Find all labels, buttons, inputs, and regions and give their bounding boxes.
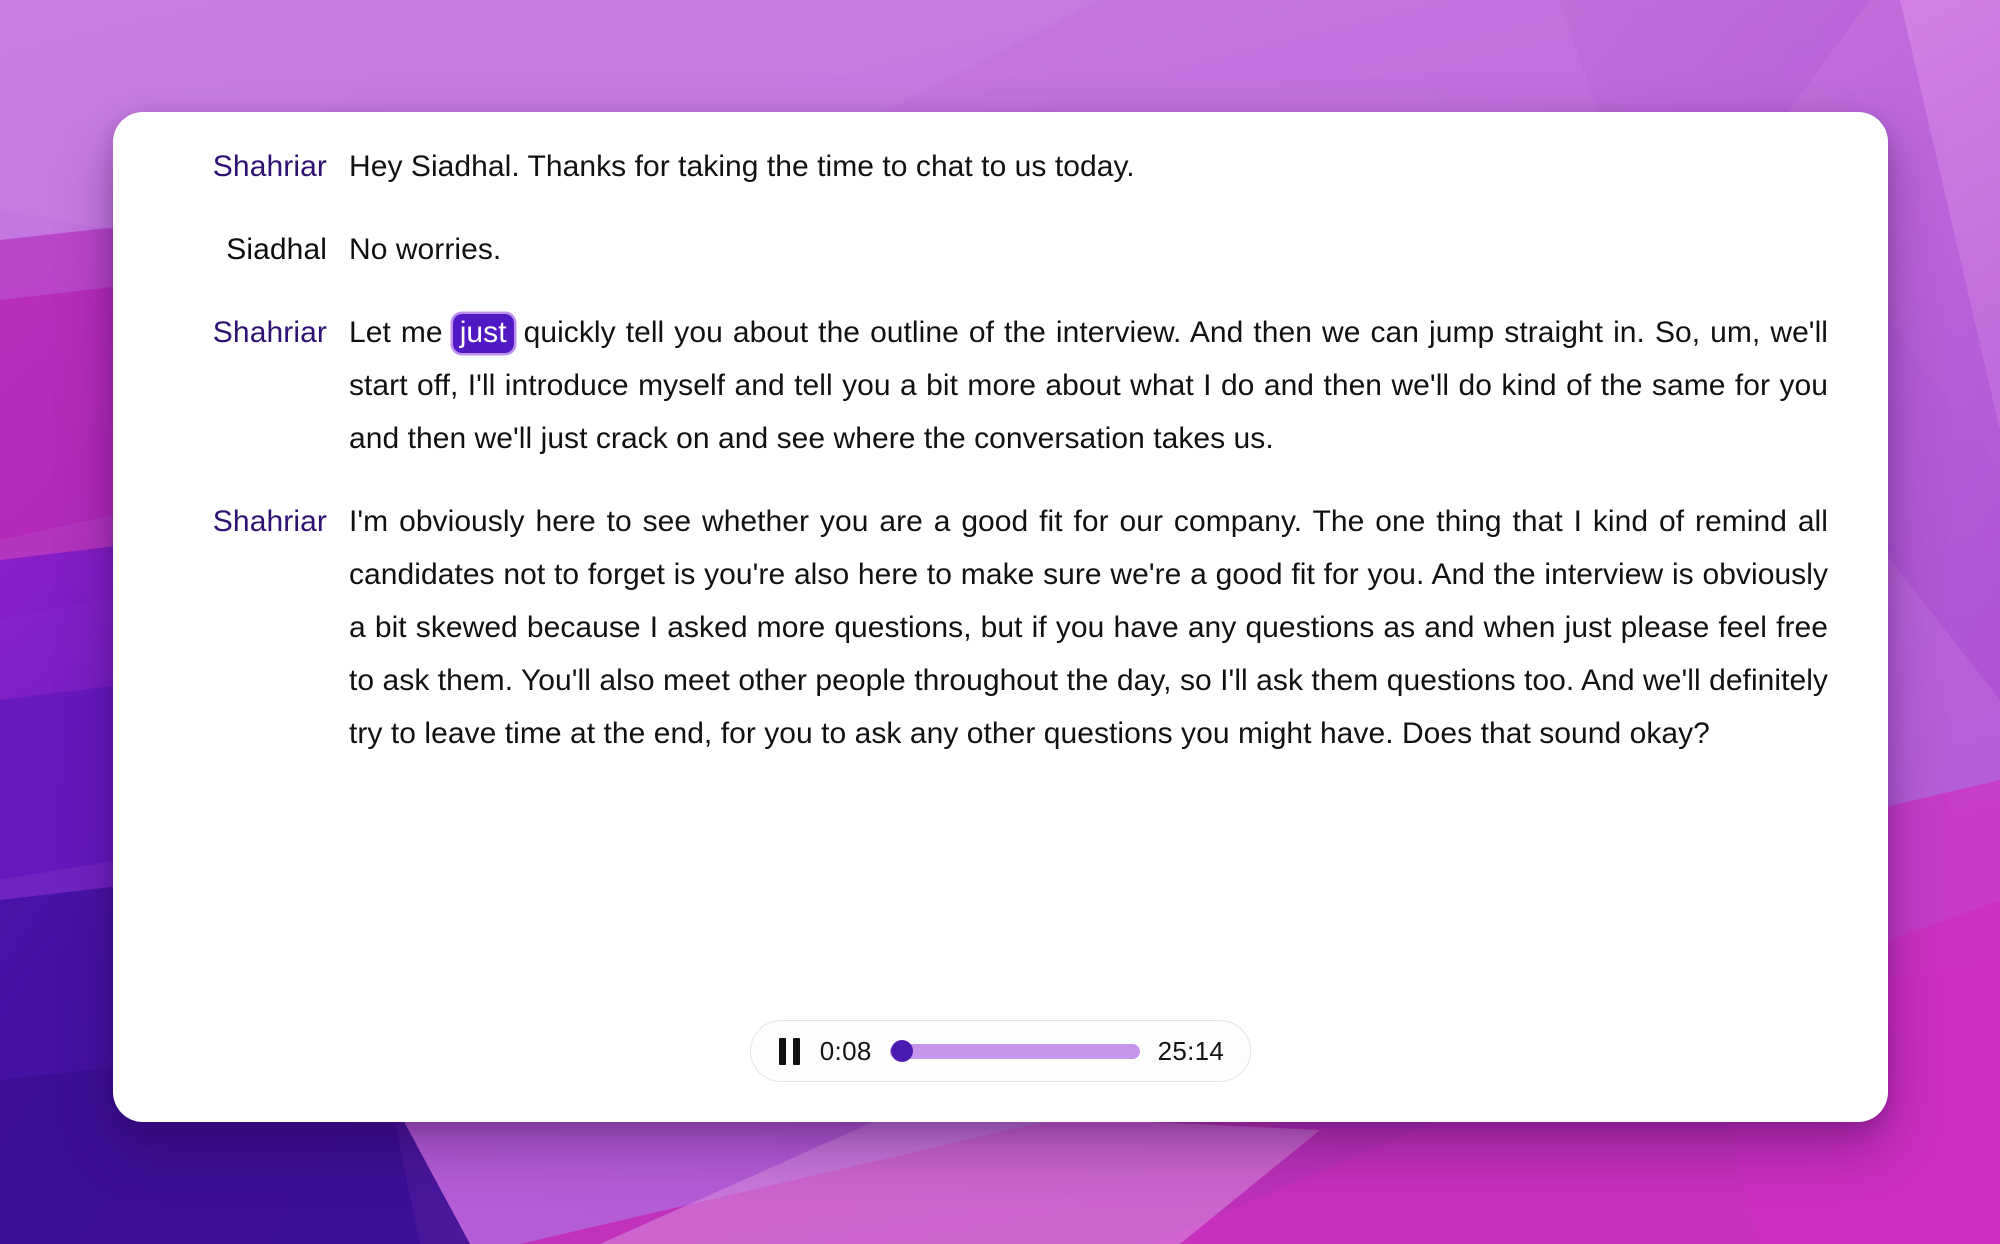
pause-bar-right (793, 1038, 800, 1065)
speaker-label-shahriar[interactable]: Shahriar (153, 306, 349, 359)
duration-label: 25:14 (1158, 1036, 1225, 1067)
utterance-segment-after: quickly tell you about the outline of th… (349, 316, 1828, 455)
transcript-turn: Shahriar Let me just quickly tell you ab… (153, 306, 1828, 465)
transcript-turn: Shahriar I'm obviously here to see wheth… (153, 495, 1828, 760)
audio-player-container: 0:08 25:14 (113, 1020, 1888, 1082)
pause-bar-left (779, 1038, 786, 1065)
utterance-text[interactable]: Let me just quickly tell you about the o… (349, 306, 1828, 465)
audio-player: 0:08 25:14 (750, 1020, 1251, 1082)
transcript-turn: Shahriar Hey Siadhal. Thanks for taking … (153, 140, 1828, 193)
speaker-label-shahriar[interactable]: Shahriar (153, 495, 349, 548)
speaker-label-shahriar[interactable]: Shahriar (153, 140, 349, 193)
utterance-segment-before: Let me (349, 316, 453, 349)
utterance-text[interactable]: I'm obviously here to see whether you ar… (349, 495, 1828, 760)
utterance-text[interactable]: Hey Siadhal. Thanks for taking the time … (349, 140, 1828, 193)
highlighted-word[interactable]: just (453, 314, 514, 353)
transcript-body: Shahriar Hey Siadhal. Thanks for taking … (113, 112, 1888, 760)
current-time-label: 0:08 (820, 1036, 872, 1067)
progress-slider[interactable] (890, 1040, 1140, 1062)
transcript-card: Shahriar Hey Siadhal. Thanks for taking … (113, 112, 1888, 1122)
utterance-text[interactable]: No worries. (349, 223, 1828, 276)
progress-track (890, 1044, 1140, 1059)
transcript-turn: Siadhal No worries. (153, 223, 1828, 276)
pause-icon[interactable] (777, 1038, 802, 1065)
speaker-label-siadhal[interactable]: Siadhal (153, 223, 349, 276)
progress-thumb[interactable] (891, 1040, 913, 1062)
